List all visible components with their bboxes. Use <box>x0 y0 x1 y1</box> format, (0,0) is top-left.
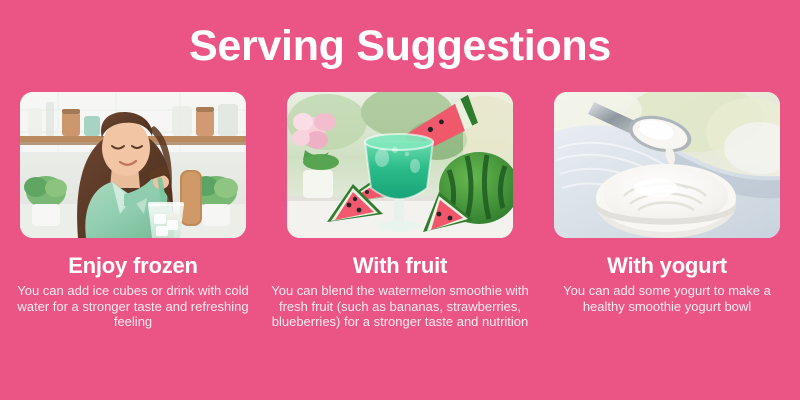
card-heading: Enjoy frozen <box>68 254 198 278</box>
card-description: You can add some yogurt to make a health… <box>542 283 792 314</box>
yogurt-bowl-with-spoon-photo <box>554 92 780 238</box>
card-heading: With yogurt <box>607 254 727 278</box>
card-thumbnail <box>287 92 513 238</box>
suggestion-card-with-yogurt: With yogurt You can add some yogurt to m… <box>554 92 780 330</box>
green-smoothie-with-watermelon-photo <box>287 92 513 238</box>
page-title: Serving Suggestions <box>189 24 611 69</box>
card-thumbnail <box>554 92 780 238</box>
card-description: You can add ice cubes or drink with cold… <box>8 283 258 330</box>
card-description: You can blend the watermelon smoothie wi… <box>271 283 529 330</box>
card-heading: With fruit <box>353 254 447 278</box>
woman-pouring-powder-into-iced-drink-photo <box>20 92 246 238</box>
suggestion-card-list: Enjoy frozen You can add ice cubes or dr… <box>0 92 800 330</box>
card-thumbnail <box>20 92 246 238</box>
suggestion-card-with-fruit: With fruit You can blend the watermelon … <box>287 92 513 330</box>
serving-suggestions-slide: Serving Suggestions <box>0 0 800 400</box>
suggestion-card-enjoy-frozen: Enjoy frozen You can add ice cubes or dr… <box>20 92 246 330</box>
